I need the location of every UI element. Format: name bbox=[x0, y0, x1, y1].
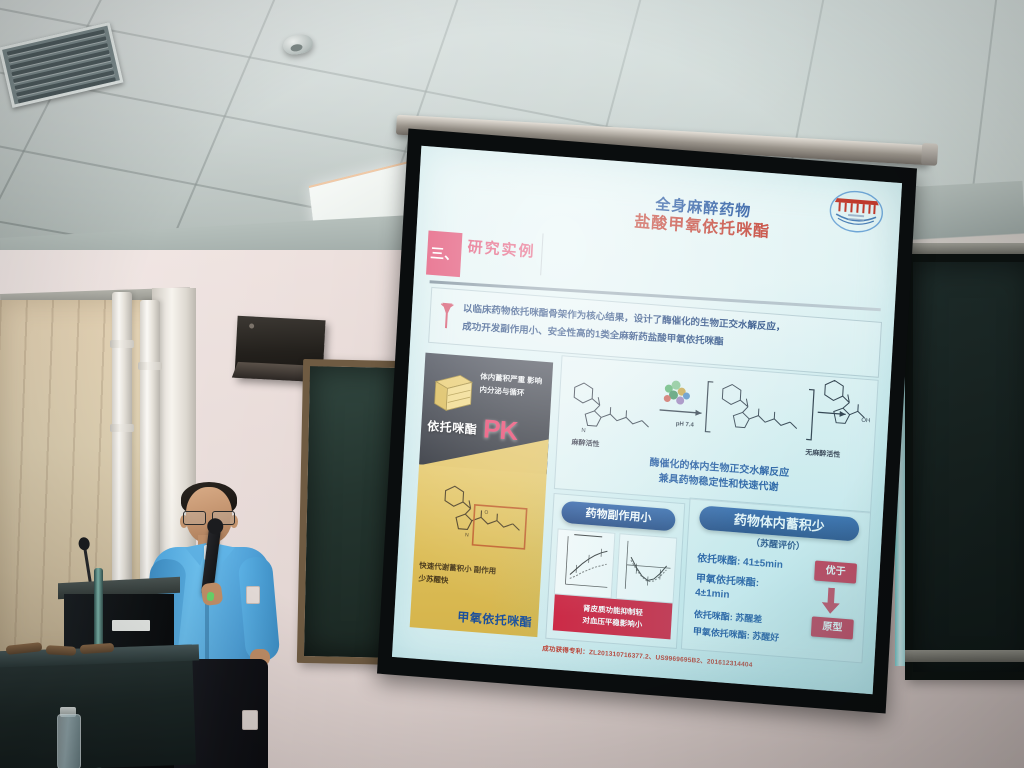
card-side-effects: 药物副作用小 bbox=[545, 493, 685, 649]
slide-content: 全身麻醉药物 盐酸甲氧依托咪酯 三、 研究实例 以临床药物依托咪酯骨架作为核心结… bbox=[392, 146, 902, 695]
svg-text:OH: OH bbox=[861, 418, 870, 425]
table-object-2 bbox=[46, 645, 76, 656]
badge-superior: 优于 bbox=[814, 560, 857, 583]
stat-methoxy-label: 甲氧依托咪酯: bbox=[696, 569, 760, 589]
side-effect-charts bbox=[554, 528, 677, 603]
section-divider bbox=[540, 233, 543, 275]
reactant-label: 麻醉活性 bbox=[571, 437, 599, 449]
stat-methoxy-value: 4±1min bbox=[695, 587, 730, 601]
roller-end-cap bbox=[921, 143, 938, 166]
comparison-arrow-icon bbox=[821, 587, 840, 614]
lead-paragraph: 以临床药物依托咪酯骨架作为核心结果，设计了酶催化的生物正交水解反应， 成功开发副… bbox=[462, 300, 873, 359]
pk-note-top: 体内蓄积严重 影响内分泌与循环 bbox=[479, 371, 548, 402]
svg-text:N: N bbox=[465, 532, 469, 538]
methoxy-etomidate-structure: N O bbox=[426, 479, 538, 565]
pk-versus-label: PK bbox=[482, 413, 518, 447]
stat-etomidate-quality: 依托咪酯: 苏醒差 bbox=[694, 607, 763, 625]
card-accumulation: 药物体内蓄积少 （苏醒评价） 依托咪酯: 41±5min 甲氧依托咪酯: 4±1… bbox=[681, 498, 871, 664]
slide-title: 全身麻醉药物 盐酸甲氧依托咪酯 bbox=[537, 187, 868, 250]
lectern-name-plate bbox=[112, 620, 150, 631]
water-bottle bbox=[57, 714, 81, 768]
minichart-blood-pressure bbox=[616, 533, 678, 603]
section-number-badge: 三、 bbox=[426, 231, 462, 278]
svg-text:N: N bbox=[581, 428, 586, 434]
lecture-hall-scene: 全身麻醉药物 盐酸甲氧依托咪酯 三、 研究实例 以临床药物依托咪酯骨架作为核心结… bbox=[0, 0, 1024, 768]
minichart-cortisol bbox=[554, 528, 616, 598]
badge-prototype: 原型 bbox=[811, 616, 854, 639]
stat-methoxy-quality: 甲氧依托咪酯: 苏醒好 bbox=[693, 624, 780, 644]
speaker-indicator-dot bbox=[249, 323, 254, 328]
table-object-3 bbox=[80, 643, 115, 654]
table-objects bbox=[6, 644, 126, 658]
pk-comparison-panel: 体内蓄积严重 影响内分泌与循环 依托咪酯 PK bbox=[410, 353, 553, 637]
wall-outlet-upper bbox=[246, 586, 260, 604]
card-side-effects-title: 药物副作用小 bbox=[561, 501, 676, 532]
svg-text:O: O bbox=[484, 510, 488, 516]
projection-screen: 全身麻醉药物 盐酸甲氧依托咪酯 三、 研究实例 以临床药物依托咪酯骨架作为核心结… bbox=[392, 130, 932, 690]
drug-accumulation-icon bbox=[430, 369, 474, 416]
reaction-scheme-panel: N pH 7.4 OH 麻醉活性 无麻醉活性 酶催化的体内生物正交水解反应 兼具… bbox=[554, 355, 879, 513]
section-label: 研究实例 bbox=[467, 236, 536, 262]
svg-text:pH 7.4: pH 7.4 bbox=[676, 421, 695, 428]
flask-icon bbox=[438, 301, 456, 332]
table-object-1 bbox=[6, 642, 43, 655]
stat-etomidate-recovery: 依托咪酯: 41±5min bbox=[697, 549, 784, 571]
wall-outlet-lower bbox=[242, 710, 258, 730]
